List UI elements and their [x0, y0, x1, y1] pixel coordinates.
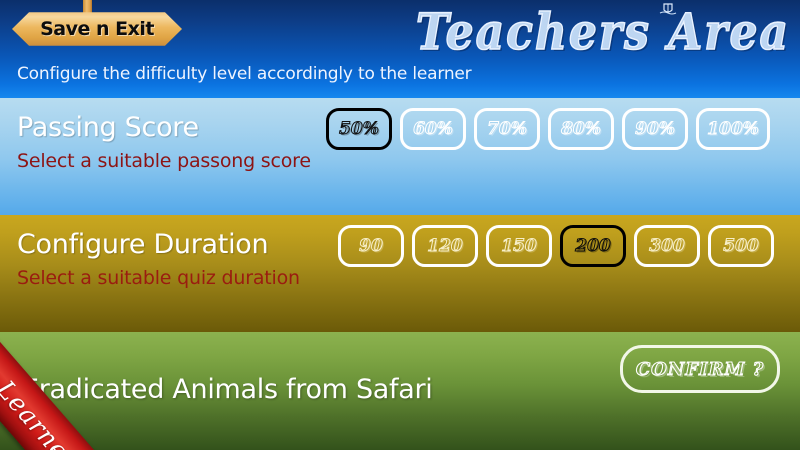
duration-option-90[interactable]: 90 — [338, 225, 404, 267]
passing-score-option-label: 60% — [413, 119, 453, 139]
passing-score-option-80pct[interactable]: 80% — [548, 108, 614, 150]
app-header: Save n Exit Teachers Area Configure the … — [0, 0, 800, 98]
teachers-area-screen: Save n Exit Teachers Area Configure the … — [0, 0, 800, 450]
passing-score-option-60pct[interactable]: 60% — [400, 108, 466, 150]
confirm-button-label: CONFIRM ? — [636, 359, 764, 380]
passing-score-title: Passing Score — [17, 112, 199, 143]
duration-option-label: 90 — [359, 236, 383, 256]
passing-score-option-label: 70% — [487, 119, 527, 139]
passing-score-subtitle: Select a suitable passong score — [17, 150, 311, 172]
passing-score-option-label: 90% — [635, 119, 675, 139]
quiz-name-label: Eradicated Animals from Safari — [22, 374, 433, 405]
page-title: Teachers Area — [416, 4, 790, 61]
duration-subtitle: Select a suitable quiz duration — [17, 267, 300, 289]
passing-score-option-label: 50% — [339, 119, 379, 139]
passing-score-option-50pct[interactable]: 50% — [326, 108, 392, 150]
duration-option-300[interactable]: 300 — [634, 225, 700, 267]
passing-score-options: 50%60%70%80%90%100% — [326, 108, 770, 150]
duration-option-label: 150 — [501, 236, 537, 256]
duration-option-150[interactable]: 150 — [486, 225, 552, 267]
save-n-exit-button[interactable]: Save n Exit — [12, 10, 182, 48]
passing-score-section: Passing Score Select a suitable passong … — [0, 98, 800, 215]
passing-score-option-label: 100% — [707, 119, 759, 139]
passing-score-option-100pct[interactable]: 100% — [696, 108, 770, 150]
duration-option-label: 120 — [427, 236, 463, 256]
passing-score-option-90pct[interactable]: 90% — [622, 108, 688, 150]
duration-options: 90120150200300500 — [338, 225, 774, 267]
duration-section: Configure Duration Select a suitable qui… — [0, 215, 800, 332]
passing-score-option-70pct[interactable]: 70% — [474, 108, 540, 150]
duration-option-label: 500 — [723, 236, 759, 256]
duration-title: Configure Duration — [17, 229, 268, 260]
save-n-exit-label: Save n Exit — [12, 10, 182, 48]
confirm-button[interactable]: CONFIRM ? — [620, 345, 780, 393]
duration-option-500[interactable]: 500 — [708, 225, 774, 267]
header-subtitle: Configure the difficulty level according… — [17, 64, 471, 84]
passing-score-option-label: 80% — [561, 119, 601, 139]
duration-option-label: 200 — [575, 236, 611, 256]
duration-option-200[interactable]: 200 — [560, 225, 626, 267]
duration-option-120[interactable]: 120 — [412, 225, 478, 267]
duration-option-label: 300 — [649, 236, 685, 256]
